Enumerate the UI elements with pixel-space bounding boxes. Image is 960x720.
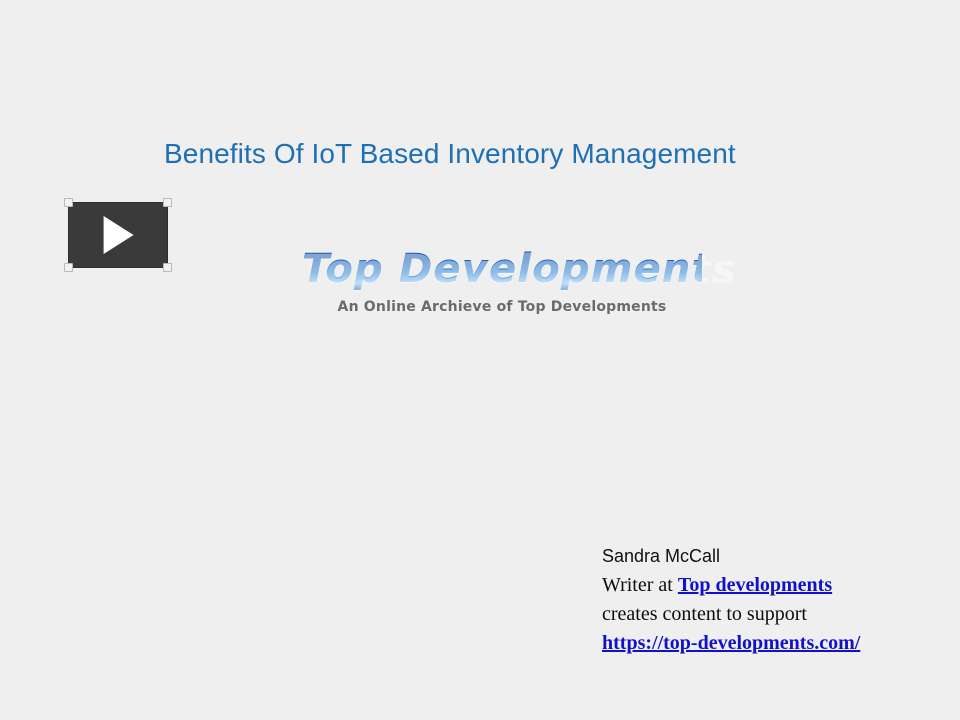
logo-wordmark: Top Developments	[302, 248, 702, 290]
page-title: Benefits Of IoT Based Inventory Manageme…	[164, 138, 864, 170]
top-developments-link[interactable]: Top developments	[678, 574, 832, 596]
author-byline: Sandra McCall Writer at Top developments…	[602, 542, 942, 658]
logo-tagline: An Online Archieve of Top Developments	[302, 299, 702, 315]
website-url-link[interactable]: https://top-developments.com/	[602, 629, 942, 658]
selection-handle-top-right[interactable]	[163, 198, 172, 207]
author-role-prefix: Writer at	[602, 574, 678, 596]
selection-handle-bottom-left[interactable]	[64, 263, 73, 272]
author-support-line: creates content to support	[602, 600, 942, 629]
selection-handle-bottom-right[interactable]	[163, 263, 172, 272]
selection-handle-top-left[interactable]	[64, 198, 73, 207]
author-role-line: Writer at Top developments	[602, 571, 942, 600]
brand-logo: Top Developments An Online Archieve of T…	[302, 248, 702, 315]
video-placeholder[interactable]	[64, 198, 172, 272]
presentation-slide: Benefits Of IoT Based Inventory Manageme…	[0, 0, 960, 720]
play-icon[interactable]	[104, 216, 134, 254]
video-frame[interactable]	[69, 203, 167, 267]
author-name: Sandra McCall	[602, 542, 942, 571]
